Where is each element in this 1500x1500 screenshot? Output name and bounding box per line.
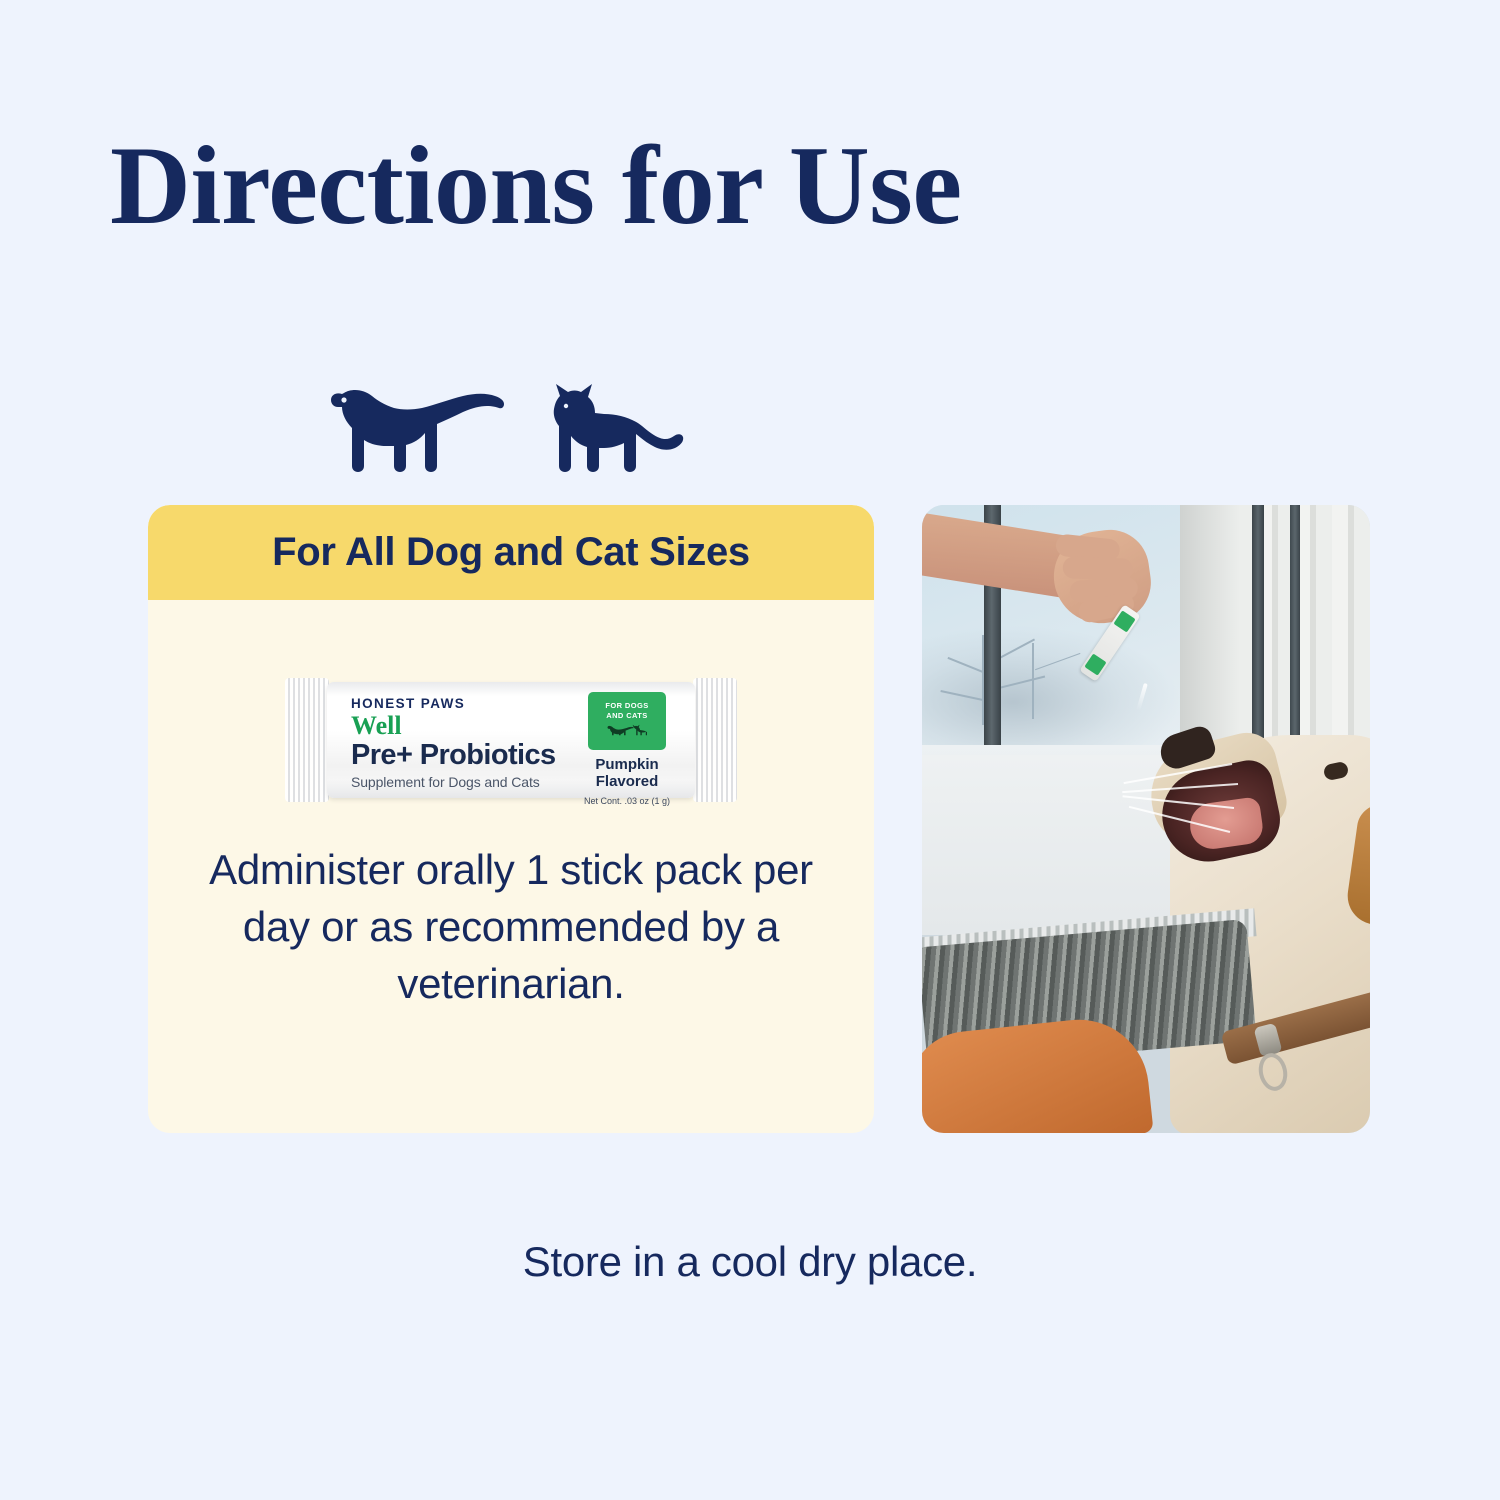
dog-silhouette-icon bbox=[331, 390, 504, 472]
pack-product-line: Well bbox=[351, 712, 556, 739]
card-header-band: For All Dog and Cat Sizes bbox=[148, 505, 874, 600]
photo-dog-whiskers bbox=[1122, 755, 1242, 865]
pet-silhouettes bbox=[322, 362, 722, 482]
badge-dog-icon bbox=[608, 726, 634, 735]
pack-crimp-right bbox=[693, 678, 737, 802]
product-image-wrap: HONEST PAWS Well Pre+ Probiotics Supplem… bbox=[148, 665, 874, 815]
for-dogs-and-cats-badge: FOR DOGS AND CATS bbox=[588, 692, 666, 750]
pack-brand: HONEST PAWS bbox=[351, 696, 556, 711]
storage-note: Store in a cool dry place. bbox=[0, 1238, 1500, 1286]
card-header-label: For All Dog and Cat Sizes bbox=[272, 530, 750, 575]
cat-silhouette-icon bbox=[554, 384, 683, 472]
pack-flavor: Pumpkin Flavored bbox=[579, 757, 675, 791]
badge-cat-icon bbox=[633, 725, 647, 736]
badge-line-2: AND CATS bbox=[606, 711, 647, 720]
pack-product-name: Pre+ Probiotics bbox=[351, 740, 556, 770]
pack-crimp-left bbox=[285, 678, 329, 802]
lifestyle-photo bbox=[922, 505, 1370, 1133]
directions-for-use-page: Directions for Use For All Dog and Cat S… bbox=[0, 0, 1500, 1500]
pack-right-column: FOR DOGS AND CATS bbox=[579, 692, 675, 806]
pack-net-content: Net Cont. .03 oz (1 g) bbox=[579, 796, 675, 806]
pack-subtitle: Supplement for Dogs and Cats bbox=[351, 774, 556, 790]
pack-front-text: HONEST PAWS Well Pre+ Probiotics Supplem… bbox=[351, 696, 556, 790]
pack-flavor-line-1: Pumpkin bbox=[579, 757, 675, 774]
pack-flavor-line-2: Flavored bbox=[579, 774, 675, 791]
pet-silhouettes-svg bbox=[322, 362, 722, 482]
photo-window-post-2 bbox=[1290, 505, 1300, 755]
directions-text: Administer orally 1 stick pack per day o… bbox=[188, 841, 834, 1012]
badge-line-1: FOR DOGS bbox=[605, 701, 648, 710]
photo-window-post-1 bbox=[1252, 505, 1264, 755]
badge-pet-icons bbox=[607, 723, 647, 741]
page-title: Directions for Use bbox=[110, 128, 962, 246]
dosage-info-card: For All Dog and Cat Sizes HONEST PAWS We… bbox=[148, 505, 874, 1133]
stick-pack-product-image: HONEST PAWS Well Pre+ Probiotics Supplem… bbox=[285, 676, 737, 804]
